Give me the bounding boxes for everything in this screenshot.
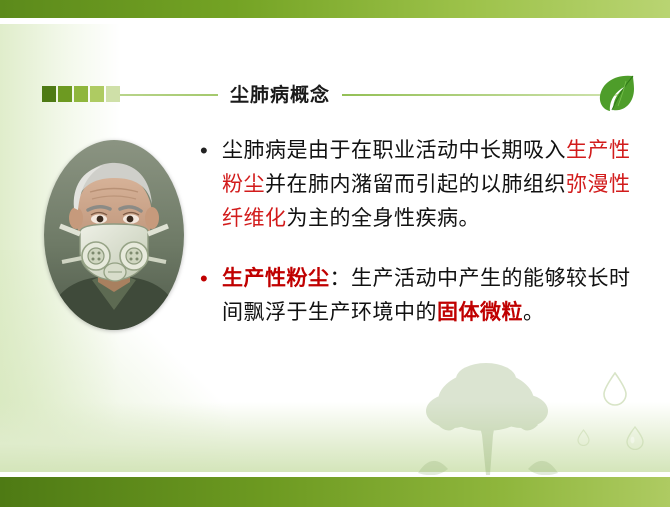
text-segment: 为主的全身性疾病。 [287, 207, 481, 230]
bullet-item-1: • 尘肺病是由于在职业活动中长期吸入生产性粉尘并在肺内潴留而引起的以肺组织弥漫性… [200, 134, 640, 236]
highlight-production-dust-term: 生产性粉尘 [222, 267, 330, 290]
bullet-marker-1: • [200, 134, 222, 168]
bullet-paragraph-1: 尘肺病是由于在职业活动中长期吸入生产性粉尘并在肺内潴留而引起的以肺组织弥漫性纤维… [222, 134, 640, 236]
highlight-solid-particles: 固体微粒 [437, 301, 523, 324]
slide-canvas: 尘肺病概念 [0, 0, 670, 507]
title-row: 尘肺病概念 [0, 72, 670, 118]
square-marker-2 [58, 86, 72, 102]
water-droplet-small-icon [626, 426, 644, 455]
square-marker-1 [42, 86, 56, 102]
title-underline [120, 94, 620, 96]
tree-silhouette-icon [398, 355, 578, 475]
text-segment: 。 [523, 301, 545, 324]
page-title: 尘肺病概念 [218, 78, 342, 109]
water-droplet-icon [602, 372, 628, 411]
square-marker-5 [106, 86, 120, 102]
bullet-paragraph-2: 生产性粉尘：生产活动中产生的能够较长时间飘浮于生产环境中的固体微粒。 [222, 262, 640, 330]
title-square-markers [42, 86, 120, 102]
elderly-man-wearing-respirator-photo [44, 140, 184, 330]
leaf-icon [596, 72, 636, 114]
text-segment: 尘肺病是由于在职业活动中长期吸入 [222, 139, 566, 162]
water-droplet-tiny-icon [577, 429, 590, 451]
body-text-block: • 尘肺病是由于在职业活动中长期吸入生产性粉尘并在肺内潴留而引起的以肺组织弥漫性… [200, 134, 640, 356]
square-marker-3 [74, 86, 88, 102]
bullet-marker-2: • [200, 262, 222, 296]
top-green-band [0, 0, 670, 18]
bullet-item-2: • 生产性粉尘：生产活动中产生的能够较长时间飘浮于生产环境中的固体微粒。 [200, 262, 640, 330]
text-segment: 并在肺内潴留而引起的以肺组织 [265, 173, 566, 196]
square-marker-4 [90, 86, 104, 102]
bottom-green-band [0, 477, 670, 507]
